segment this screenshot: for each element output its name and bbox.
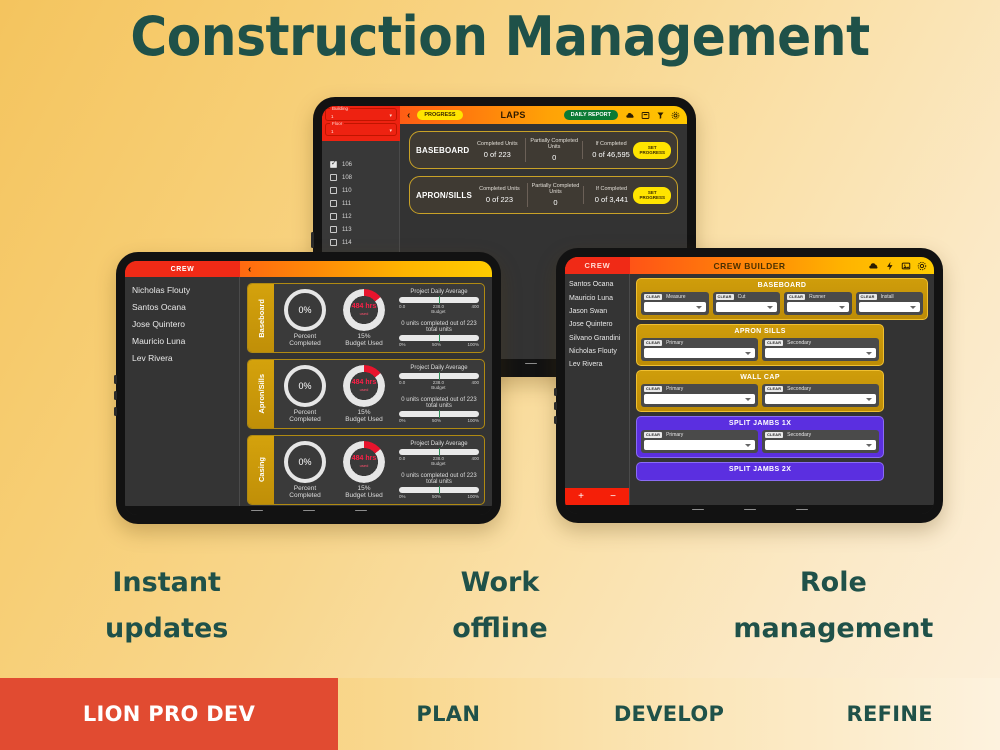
gauge-caption: 15%Budget Used: [345, 409, 383, 424]
dropdown-value: 1: [331, 114, 334, 119]
field-label: Primary: [666, 432, 683, 438]
bar-title: 0 units completed out of 223 total units: [399, 321, 479, 333]
btn-line2: PROGRESS: [639, 150, 665, 156]
group-split-jambs-2x: SPLIT JAMBS 2X: [636, 462, 884, 481]
hours-sub: used: [360, 387, 369, 392]
crew-member[interactable]: Jose Quintero: [125, 315, 239, 332]
unit-id: 111: [342, 201, 351, 207]
page-title: Construction Management: [35, 2, 965, 72]
col-value: 0 of 3,441: [586, 195, 637, 204]
cloud-upload-icon[interactable]: [869, 261, 879, 271]
feature-line2: updates: [0, 606, 333, 652]
col-value: 0: [530, 198, 581, 207]
crew-tab[interactable]: CREW: [565, 257, 630, 274]
chevron-down-icon[interactable]: ▾: [389, 128, 392, 134]
clear-button[interactable]: CLEAR: [644, 386, 662, 392]
col-header: Completed Units: [474, 186, 525, 192]
dashboard-row[interactable]: Casing 0% PercentCompleted 484 hrsused 1…: [247, 435, 485, 505]
tablet-device-crew-builder: CREW CREW BUILDER Santos Ocana Mauricio …: [556, 248, 943, 523]
role-field[interactable]: CLEARSecondary: [762, 384, 879, 407]
device-button[interactable]: [114, 375, 117, 384]
gauge-caption: 15%Budget Used: [345, 333, 383, 348]
daily-average-bar: Project Daily Average 0.0238.0Budget400: [399, 441, 479, 467]
dashboard-app-header: CREW ‹: [125, 261, 492, 277]
add-crew-button[interactable]: +: [565, 488, 597, 505]
field-label: Secondary: [787, 432, 811, 438]
bar-track: [399, 373, 479, 379]
remove-crew-button[interactable]: −: [597, 488, 629, 505]
back-chevron-icon[interactable]: ‹: [240, 264, 259, 275]
image-icon[interactable]: [901, 261, 911, 271]
bar-track: [399, 411, 479, 417]
group-baseboard: BASEBOARD CLEARMeasure CLEARCut CLEARRun…: [636, 278, 928, 320]
percent-gauge: 0% PercentCompleted: [279, 441, 331, 500]
home-indicator-bar: [565, 505, 934, 514]
bar-title: Project Daily Average: [399, 289, 479, 295]
role-field[interactable]: CLEARCut: [713, 292, 781, 315]
unit-id: 114: [342, 240, 352, 246]
footer-item-develop[interactable]: DEVELOP: [559, 678, 780, 750]
filter-icon[interactable]: [656, 111, 665, 120]
unit-id: 112: [342, 214, 352, 220]
gauge-caption: PercentCompleted: [289, 333, 320, 348]
dashboard-row[interactable]: Apron/Sills 0% PercentCompleted 484 hrsu…: [247, 359, 485, 429]
calculator-icon[interactable]: [641, 111, 650, 120]
dashboard-row[interactable]: Baseboard 0% PercentCompleted 484 hrsuse…: [247, 283, 485, 353]
unit-id: 106: [342, 162, 352, 168]
clear-button[interactable]: CLEAR: [644, 340, 662, 346]
group-wall-cap: WALL CAP CLEARPrimary CLEARSecondary: [636, 370, 884, 412]
hours-sub: used: [360, 311, 369, 316]
clear-button[interactable]: CLEAR: [765, 386, 783, 392]
col-value: 0 of 223: [471, 150, 523, 159]
budget-gauge: 484 hrsused 15%Budget Used: [338, 441, 390, 500]
budget-gauge: 484 hrsused 15%Budget Used: [338, 365, 390, 424]
unit-row[interactable]: 106: [322, 158, 399, 171]
field-label: Cut: [738, 294, 746, 300]
role-field[interactable]: CLEARInstall: [856, 292, 924, 315]
feature-line1: Work: [333, 560, 666, 606]
crew-member[interactable]: Santos Ocana: [125, 298, 239, 315]
daily-average-bar: Project Daily Average 0.0238.0Budget400: [399, 365, 479, 391]
unit-row[interactable]: 112: [322, 210, 399, 223]
bar-track: [399, 335, 479, 341]
col-header: If Completed: [585, 141, 637, 147]
gauge-caption: PercentCompleted: [289, 485, 320, 500]
crew-select[interactable]: [644, 302, 706, 312]
dropdown-value: 1: [331, 129, 334, 134]
checkbox[interactable]: [330, 213, 337, 220]
role-field[interactable]: CLEARPrimary: [641, 430, 758, 453]
role-field[interactable]: CLEARSecondary: [762, 338, 879, 361]
screen-title-crew-builder: CREW BUILDER: [630, 261, 869, 271]
partially-completed-col: Partially Completed Units 0: [525, 138, 582, 162]
role-field[interactable]: CLEARPrimary: [641, 384, 758, 407]
group-title: WALL CAP: [641, 373, 879, 384]
crew-builder-groups-panel: BASEBOARD CLEARMeasure CLEARCut CLEARRun…: [630, 274, 934, 505]
crew-member[interactable]: Lev Rivera: [565, 358, 629, 371]
unit-row[interactable]: 114: [322, 236, 399, 249]
building-dropdown[interactable]: Building 1 ▾: [325, 108, 397, 121]
col-value: 0 of 46,595: [585, 150, 637, 159]
hours-value: 484 hrs: [352, 303, 377, 311]
checkbox[interactable]: [330, 200, 337, 207]
crew-member[interactable]: Jose Quintero: [565, 318, 629, 331]
crew-member[interactable]: Nicholas Flouty: [125, 281, 239, 298]
bar-title: 0 units completed out of 223 total units: [399, 397, 479, 409]
col-header: If Completed: [586, 186, 637, 192]
card-title: APRON/SILLS: [416, 191, 472, 200]
device-button[interactable]: [114, 391, 117, 400]
row-label: Apron/Sills: [248, 360, 274, 428]
group-split-jambs-1x: SPLIT JAMBS 1X CLEARPrimary CLEARSeconda…: [636, 416, 884, 458]
device-button[interactable]: [311, 232, 314, 248]
checkbox-checked[interactable]: [330, 161, 337, 168]
budget-gauge: 484 hrsused 15%Budget Used: [338, 289, 390, 348]
brand-label: LION PRO DEV: [0, 678, 338, 750]
row-label: Casing: [248, 436, 274, 504]
group-title: SPLIT JAMBS 2X: [641, 465, 879, 476]
feature-role-management: Role management: [667, 560, 1000, 652]
unit-row[interactable]: 110: [322, 184, 399, 197]
crew-select[interactable]: [644, 348, 755, 358]
col-value: 0: [528, 153, 580, 162]
unit-row[interactable]: 113: [322, 223, 399, 236]
feature-work-offline: Work offline: [333, 560, 666, 652]
crew-select[interactable]: [644, 440, 755, 450]
set-progress-button[interactable]: SET PROGRESS: [633, 142, 671, 159]
feature-line2: offline: [333, 606, 666, 652]
crew-member[interactable]: Mauricio Luna: [565, 291, 629, 304]
daily-average-bar: Project Daily Average 0.0238.0Budget400: [399, 289, 479, 315]
field-label: Primary: [666, 340, 683, 346]
progress-card[interactable]: APRON/SILLS Completed Units 0 of 223 Par…: [409, 176, 678, 214]
crew-member[interactable]: Nicholas Flouty: [565, 345, 629, 358]
col-header: Partially Completed Units: [530, 183, 581, 195]
checkbox[interactable]: [330, 239, 337, 246]
building-floor-selector-panel[interactable]: Building 1 ▾ Floor 1 ▾: [322, 106, 400, 141]
crew-member[interactable]: Jason Swan: [565, 305, 629, 318]
dropdown-label: Floor: [330, 121, 344, 126]
hours-value: 484 hrs: [352, 455, 377, 463]
crew-select[interactable]: [765, 394, 876, 404]
units-completed-bar: 0 units completed out of 223 total units…: [399, 473, 479, 500]
device-button[interactable]: [114, 407, 117, 416]
bar-track: [399, 297, 479, 303]
group-title: BASEBOARD: [641, 281, 923, 292]
field-label: Install: [881, 294, 894, 300]
device-button[interactable]: [554, 416, 557, 424]
clear-button[interactable]: CLEAR: [765, 340, 783, 346]
unit-row[interactable]: 111: [322, 197, 399, 210]
row-label-text: Apron/Sills: [257, 374, 266, 414]
field-label: Secondary: [787, 340, 811, 346]
role-field[interactable]: CLEARSecondary: [762, 430, 879, 453]
hours-sub: used: [360, 463, 369, 468]
field-label: Secondary: [787, 386, 811, 392]
crew-member[interactable]: Lev Rivera: [125, 349, 239, 366]
group-apron-sills: APRON SILLS CLEARPrimary CLEARSecondary: [636, 324, 884, 366]
screen-title-laps: LAPS: [463, 110, 564, 120]
unit-id: 110: [342, 188, 352, 194]
gauge-caption: 15%Budget Used: [345, 485, 383, 500]
checkbox[interactable]: [330, 187, 337, 194]
back-chevron-icon[interactable]: ‹: [400, 110, 417, 121]
device-button[interactable]: [554, 388, 557, 396]
flash-icon[interactable]: [885, 261, 895, 271]
bar-title: Project Daily Average: [399, 365, 479, 371]
crew-builder-header: CREW CREW BUILDER: [565, 257, 934, 274]
crew-list[interactable]: Santos Ocana Mauricio Luna Jason Swan Jo…: [565, 274, 630, 505]
bar-track: [399, 487, 479, 493]
floor-dropdown[interactable]: Floor 1 ▾: [325, 123, 397, 136]
role-field[interactable]: CLEARMeasure: [641, 292, 709, 315]
home-indicator-bar: [125, 506, 492, 515]
gear-icon[interactable]: [671, 111, 680, 120]
tablet-device-dashboard: CREW ‹ Nicholas Flouty Santos Ocana Jose…: [116, 252, 501, 524]
progress-card[interactable]: BASEBOARD Completed Units 0 of 223 Parti…: [409, 131, 678, 169]
crew-select[interactable]: [765, 440, 876, 450]
percent-value: 0%: [298, 305, 311, 315]
bar-track: [399, 449, 479, 455]
clear-button[interactable]: CLEAR: [644, 432, 662, 438]
field-label: Measure: [666, 294, 685, 300]
dropdown-label: Building: [330, 106, 350, 111]
clear-button[interactable]: CLEAR: [787, 294, 805, 300]
crew-select[interactable]: [787, 302, 849, 312]
feature-captions: Instant updates Work offline Role manage…: [0, 560, 1000, 652]
row-label-text: Baseboard: [257, 299, 266, 338]
col-value: 0 of 223: [474, 195, 525, 204]
row-label-text: Casing: [257, 457, 266, 482]
crew-tab[interactable]: CREW: [125, 261, 240, 277]
gear-icon[interactable]: [917, 261, 927, 271]
col-header: Completed Units: [471, 141, 523, 147]
footer-item-plan[interactable]: PLAN: [338, 678, 559, 750]
role-field[interactable]: CLEARPrimary: [641, 338, 758, 361]
unit-id: 108: [342, 175, 352, 181]
clear-button[interactable]: CLEAR: [859, 294, 877, 300]
feature-line2: management: [667, 606, 1000, 652]
checkbox[interactable]: [330, 226, 337, 233]
progress-pill-button[interactable]: PROGRESS: [417, 110, 462, 120]
set-progress-button[interactable]: SET PROGRESS: [633, 187, 671, 204]
feature-line1: Role: [667, 560, 1000, 606]
clear-button[interactable]: CLEAR: [644, 294, 662, 300]
crew-select[interactable]: [716, 302, 778, 312]
footer-bar: LION PRO DEV PLAN DEVELOP REFINE: [0, 678, 1000, 750]
row-label: Baseboard: [248, 284, 274, 352]
crew-list[interactable]: Nicholas Flouty Santos Ocana Jose Quinte…: [125, 277, 240, 506]
crew-select[interactable]: [859, 302, 921, 312]
crew-select[interactable]: [765, 348, 876, 358]
field-label: Primary: [666, 386, 683, 392]
daily-report-button[interactable]: DAILY REPORT: [564, 110, 618, 120]
unit-row[interactable]: 108: [322, 171, 399, 184]
device-button[interactable]: [554, 402, 557, 410]
chevron-down-icon[interactable]: ▾: [389, 113, 392, 119]
completed-units-col: Completed Units 0 of 223: [469, 141, 525, 159]
percent-gauge: 0% PercentCompleted: [279, 289, 331, 348]
units-completed-bar: 0 units completed out of 223 total units…: [399, 321, 479, 348]
unit-id: 113: [342, 227, 352, 233]
group-title: SPLIT JAMBS 1X: [641, 419, 879, 430]
field-label: Runner: [809, 294, 825, 300]
card-title: BASEBOARD: [416, 146, 469, 155]
role-field[interactable]: CLEARRunner: [784, 292, 852, 315]
percent-value: 0%: [298, 381, 311, 391]
percent-gauge: 0% PercentCompleted: [279, 365, 331, 424]
group-title: APRON SILLS: [641, 327, 879, 338]
cloud-upload-icon[interactable]: [626, 111, 635, 120]
gauge-caption: PercentCompleted: [289, 409, 320, 424]
feature-line1: Instant: [0, 560, 333, 606]
clear-button[interactable]: CLEAR: [716, 294, 734, 300]
crew-member[interactable]: Mauricio Luna: [125, 332, 239, 349]
bar-title: Project Daily Average: [399, 441, 479, 447]
feature-instant-updates: Instant updates: [0, 560, 333, 652]
checkbox[interactable]: [330, 174, 337, 181]
bar-title: 0 units completed out of 223 total units: [399, 473, 479, 485]
clear-button[interactable]: CLEAR: [765, 432, 783, 438]
completed-units-col: Completed Units 0 of 223: [472, 186, 527, 204]
hours-value: 484 hrs: [352, 379, 377, 387]
btn-line2: PROGRESS: [639, 195, 665, 201]
crew-select[interactable]: [644, 394, 755, 404]
crew-member[interactable]: Santos Ocana: [565, 278, 629, 291]
dashboard-rows-panel: Baseboard 0% PercentCompleted 484 hrsuse…: [240, 277, 492, 506]
footer-item-refine[interactable]: REFINE: [779, 678, 1000, 750]
col-header: Partially Completed Units: [528, 138, 580, 150]
percent-value: 0%: [298, 457, 311, 467]
crew-member[interactable]: Silvano Grandini: [565, 332, 629, 345]
units-completed-bar: 0 units completed out of 223 total units…: [399, 397, 479, 424]
partially-completed-col: Partially Completed Units 0: [527, 183, 583, 207]
